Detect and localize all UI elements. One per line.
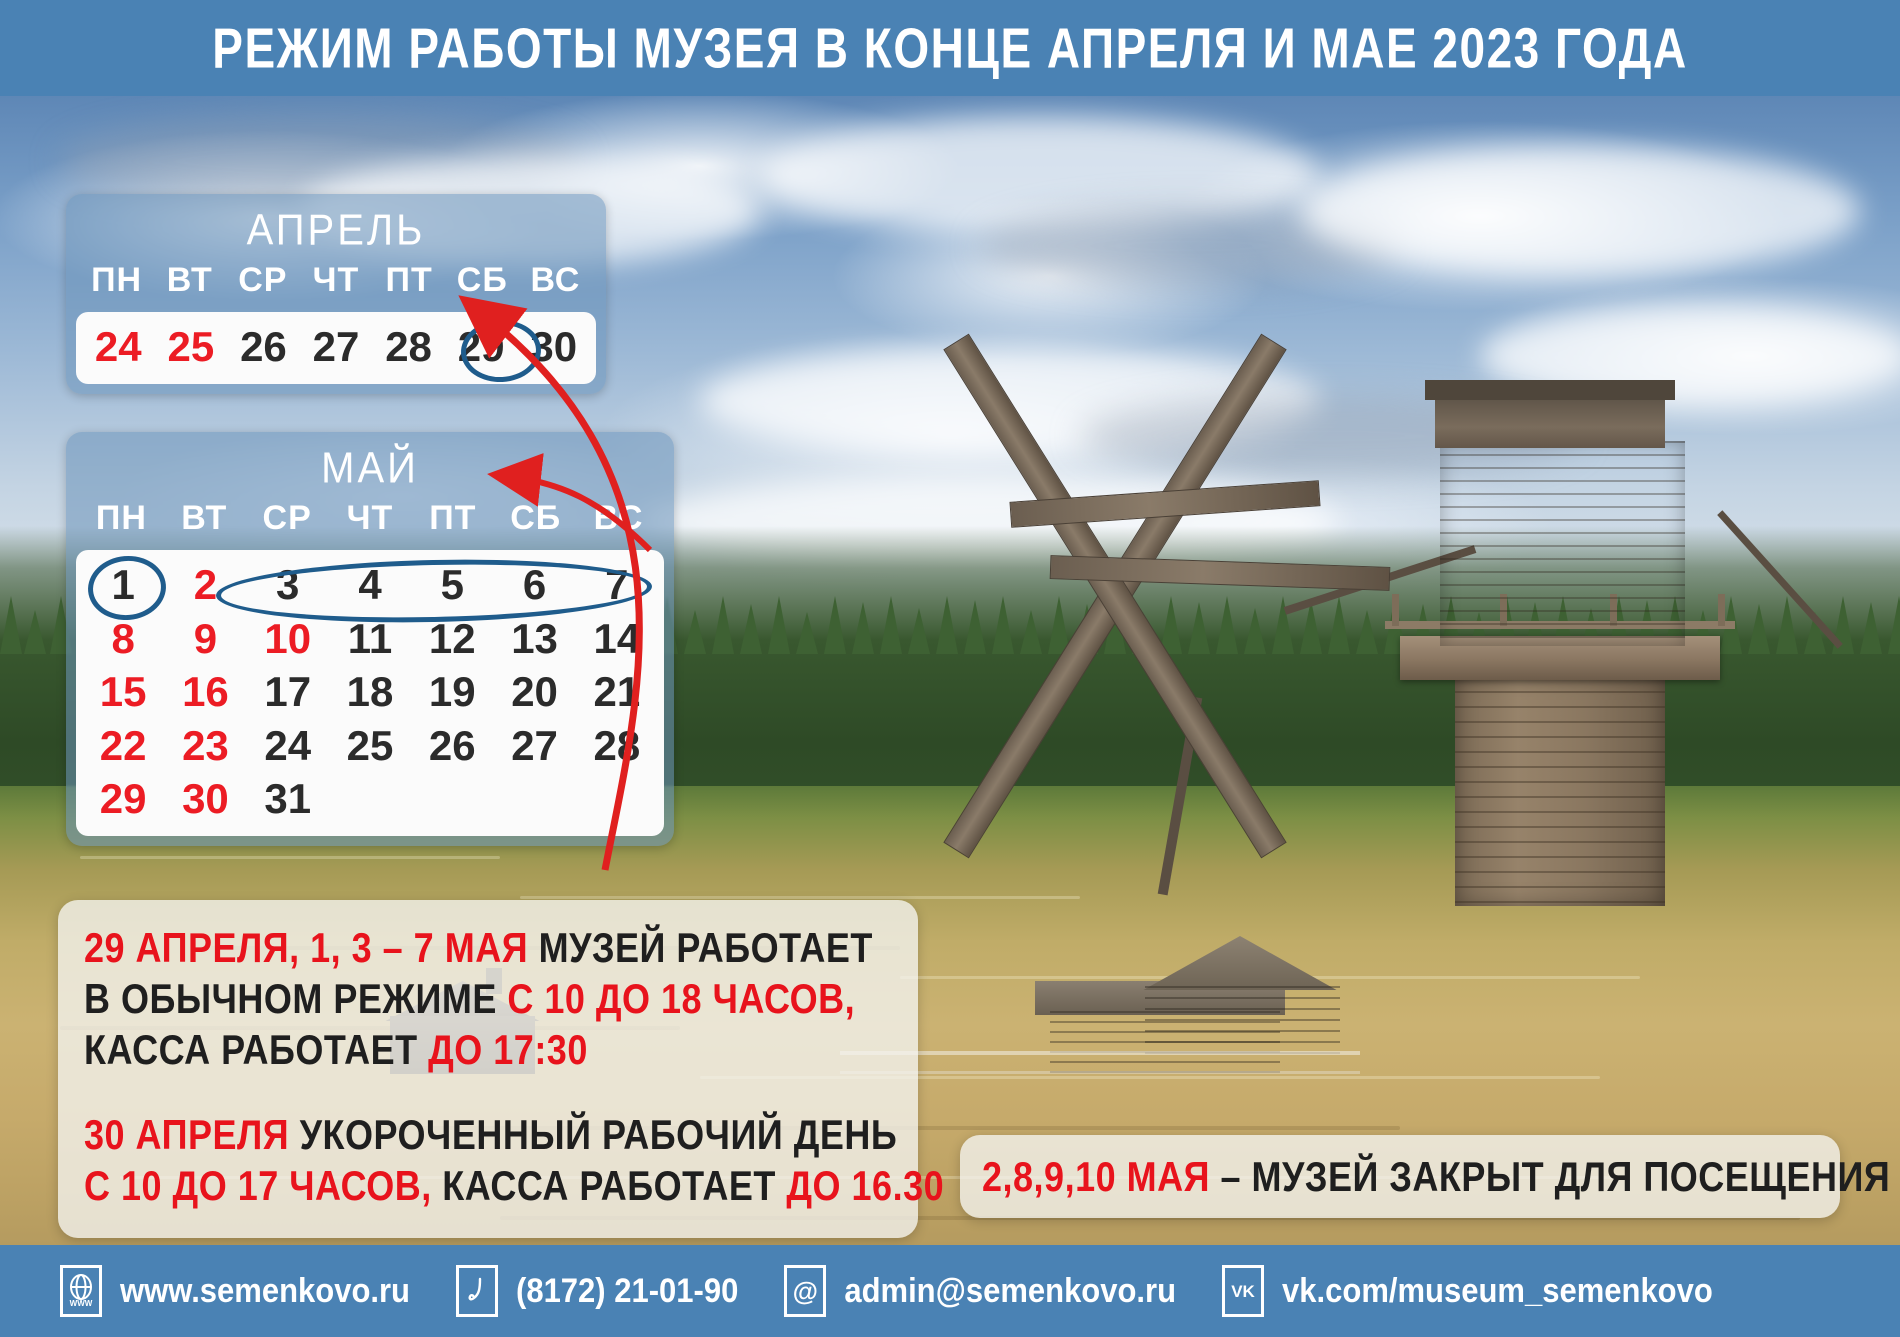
day-cell[interactable]: 21	[576, 667, 658, 717]
day-cell[interactable]: 9	[164, 614, 246, 664]
info-text: В ОБЫЧНОМ РЕЖИМЕ	[84, 975, 507, 1023]
day-cell-highlighted[interactable]: 6	[493, 560, 575, 610]
fence-rail	[840, 1071, 1360, 1074]
day-cell[interactable]: 24	[247, 721, 329, 771]
weekday-label: ПН	[80, 499, 163, 538]
info-hours-short: С 10 ДО 17 ЧАСОВ,	[84, 1162, 442, 1210]
calendar-may: МАЙ ПН ВТ СР ЧТ ПТ СБ ВС 1 2 3 4 5 6 7 8…	[66, 432, 674, 846]
weekday-label: ЧТ	[299, 261, 372, 300]
cloud	[1300, 146, 1860, 276]
day-cell[interactable]: 10	[247, 614, 329, 664]
day-cell[interactable]: 8	[82, 614, 164, 664]
windmill-body	[1440, 441, 1685, 646]
day-cell[interactable]: 18	[329, 667, 411, 717]
calendar-april: АПРЕЛЬ ПН ВТ СР ЧТ ПТ СБ ВС 24 25 26 27 …	[66, 194, 606, 394]
day-cell[interactable]: 30	[517, 322, 590, 372]
footer-phone-text: (8172) 21-01-90	[516, 1271, 738, 1311]
weekday-label: ВС	[519, 261, 592, 300]
day-cell[interactable]: 12	[411, 614, 493, 664]
info-cashdesk-time-short: ДО 16.30	[786, 1162, 944, 1210]
info-dates-open: 29 АПРЕЛЯ, 1, 3 – 7 МАЯ	[84, 924, 539, 972]
day-cell[interactable]: 28	[576, 721, 658, 771]
day-cell[interactable]: 26	[227, 322, 300, 372]
weekday-label: ВС	[577, 499, 660, 538]
closed-days-panel: 2,8,9,10 МАЯ – МУЗЕЙ ЗАКРЫТ ДЛЯ ПОСЕЩЕНИ…	[960, 1135, 1840, 1218]
weekday-label: СР	[226, 261, 299, 300]
footer-website-text: www.semenkovo.ru	[120, 1271, 410, 1311]
windmill-rail-post	[1392, 594, 1399, 626]
calendar-april-grid-wrap: 24 25 26 27 28 29 30	[76, 312, 596, 384]
weekday-label: СБ	[494, 499, 577, 538]
day-cell-highlighted[interactable]: 5	[411, 560, 493, 610]
info-date-short-day: 30 АПРЕЛЯ	[84, 1111, 300, 1159]
day-cell[interactable]: 17	[247, 667, 329, 717]
footer-email[interactable]: @ admin@semenkovo.ru	[784, 1265, 1176, 1317]
log-hut-body	[1145, 986, 1340, 1058]
weekday-label: ЧТ	[329, 499, 412, 538]
page-title: РЕЖИМ РАБОТЫ МУЗЕЯ В КОНЦЕ АПРЕЛЯ И МАЕ …	[0, 0, 1900, 107]
info-cashdesk-time: ДО 17:30	[428, 1026, 588, 1074]
day-cell[interactable]: 13	[493, 614, 575, 664]
info-line-3: КАССА РАБОТАЕТ ДО 17:30	[84, 1020, 892, 1079]
day-cell-highlighted[interactable]: 4	[329, 560, 411, 610]
email-at-icon: @	[784, 1265, 826, 1317]
svg-text:VK: VK	[1231, 1282, 1255, 1301]
day-cell[interactable]: 14	[576, 614, 658, 664]
calendar-april-weekday-header: ПН ВТ СР ЧТ ПТ СБ ВС	[66, 255, 606, 312]
windmill-rail-post	[1718, 594, 1725, 626]
info-text: МУЗЕЙ РАБОТАЕТ	[539, 924, 873, 972]
day-cell[interactable]: 20	[493, 667, 575, 717]
calendar-may-title: МАЙ	[66, 432, 674, 495]
closed-days-line: 2,8,9,10 МАЯ – МУЗЕЙ ЗАКРЫТ ДЛЯ ПОСЕЩЕНИ…	[982, 1147, 1818, 1206]
fence-rail	[840, 1051, 1360, 1055]
day-cell[interactable]: 28	[372, 322, 445, 372]
vk-icon: VK	[1222, 1265, 1264, 1317]
day-cell[interactable]: 30	[164, 774, 246, 824]
weekday-label: ПН	[80, 261, 153, 300]
header-bar: РЕЖИМ РАБОТЫ МУЗЕЯ В КОНЦЕ АПРЕЛЯ И МАЕ …	[0, 0, 1900, 96]
svg-text:WWW: WWW	[70, 1299, 93, 1308]
footer-bar: WWW www.semenkovo.ru (8172) 21-01-90 @ a…	[0, 1245, 1900, 1337]
calendar-may-grid-wrap: 1 2 3 4 5 6 7 8 9 10 11 12 13 14 15 16 1…	[76, 550, 664, 836]
poster-root: РЕЖИМ РАБОТЫ МУЗЕЯ В КОНЦЕ АПРЕЛЯ И МАЕ …	[0, 0, 1900, 1337]
weekday-label: ВТ	[153, 261, 226, 300]
weekday-label: СБ	[446, 261, 519, 300]
footer-website[interactable]: WWW www.semenkovo.ru	[60, 1265, 410, 1317]
day-cell[interactable]: 19	[411, 667, 493, 717]
day-cell[interactable]: 2	[164, 560, 246, 610]
windmill-base-logs	[1455, 676, 1665, 906]
day-cell[interactable]: 24	[82, 322, 155, 372]
footer-email-text: admin@semenkovo.ru	[844, 1271, 1176, 1311]
day-cell[interactable]: 31	[247, 774, 329, 824]
info-line-5: С 10 ДО 17 ЧАСОВ, КАССА РАБОТАЕТ ДО 16.3…	[84, 1156, 892, 1215]
weekday-label: ПТ	[411, 499, 494, 538]
info-text: КАССА РАБОТАЕТ	[442, 1162, 786, 1210]
phone-icon	[456, 1265, 498, 1317]
weekday-label: ВТ	[163, 499, 246, 538]
windmill-cap	[1435, 396, 1665, 448]
weekday-label: СР	[246, 499, 329, 538]
closed-dates: 2,8,9,10 МАЯ	[982, 1153, 1220, 1201]
windmill-roof	[1425, 380, 1675, 400]
day-cell[interactable]: 29	[82, 774, 164, 824]
day-cell[interactable]: 15	[82, 667, 164, 717]
globe-www-icon: WWW	[60, 1265, 102, 1317]
calendar-may-weekday-header: ПН ВТ СР ЧТ ПТ СБ ВС	[66, 493, 674, 550]
day-cell-highlighted[interactable]: 29	[445, 322, 518, 372]
weekday-label: ПТ	[373, 261, 446, 300]
day-cell-highlighted[interactable]: 7	[576, 560, 658, 610]
footer-vk[interactable]: VK vk.com/museum_semenkovo	[1222, 1265, 1713, 1317]
day-cell-highlighted[interactable]: 3	[247, 560, 329, 610]
day-cell[interactable]: 26	[411, 721, 493, 771]
info-hours: С 10 ДО 18 ЧАСОВ,	[507, 975, 855, 1023]
day-cell[interactable]: 27	[300, 322, 373, 372]
calendar-may-grid: 1 2 3 4 5 6 7 8 9 10 11 12 13 14 15 16 1…	[82, 560, 658, 824]
day-cell[interactable]: 11	[329, 614, 411, 664]
schedule-info-panel: 29 АПРЕЛЯ, 1, 3 – 7 МАЯ МУЗЕЙ РАБОТАЕТ В…	[58, 900, 918, 1238]
day-cell[interactable]: 22	[82, 721, 164, 771]
day-cell-highlighted[interactable]: 1	[82, 560, 164, 610]
calendar-april-grid: 24 25 26 27 28 29 30	[82, 322, 590, 372]
day-cell[interactable]: 23	[164, 721, 246, 771]
day-cell[interactable]: 16	[164, 667, 246, 717]
closed-text: – МУЗЕЙ ЗАКРЫТ ДЛЯ ПОСЕЩЕНИЯ	[1220, 1153, 1890, 1201]
footer-vk-text: vk.com/museum_semenkovo	[1282, 1271, 1713, 1311]
calendar-april-title: АПРЕЛЬ	[66, 194, 606, 257]
day-cell[interactable]: 25	[329, 721, 411, 771]
footer-phone[interactable]: (8172) 21-01-90	[456, 1265, 738, 1317]
info-text: УКОРОЧЕННЫЙ РАБОЧИЙ ДЕНЬ	[300, 1111, 898, 1159]
day-cell[interactable]: 27	[493, 721, 575, 771]
day-cell[interactable]: 25	[155, 322, 228, 372]
info-text: КАССА РАБОТАЕТ	[84, 1026, 428, 1074]
